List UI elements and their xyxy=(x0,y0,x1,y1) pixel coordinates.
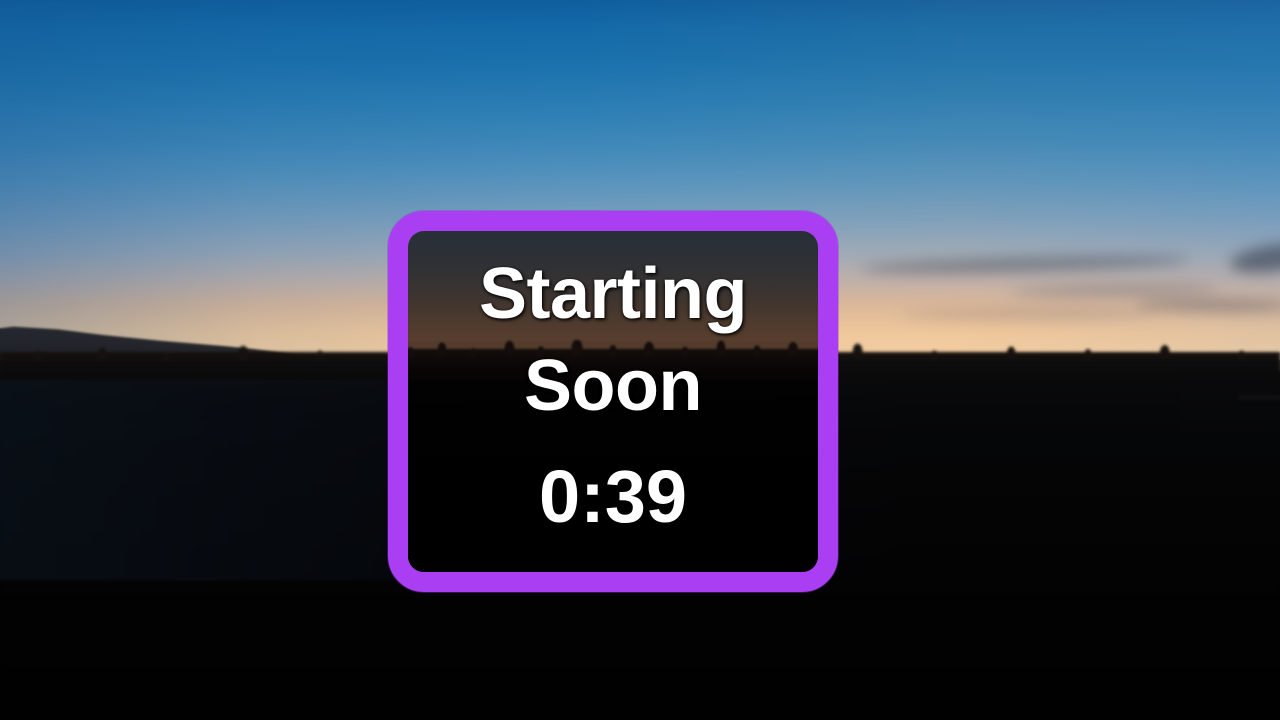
card-text-stack: Starting Soon 0:39 xyxy=(408,231,818,534)
starting-soon-card: Starting Soon 0:39 xyxy=(388,211,838,592)
countdown-timer: 0:39 xyxy=(539,460,687,534)
soon-text: Soon xyxy=(524,350,702,422)
screen-stage: Starting Soon 0:39 xyxy=(0,0,1280,720)
starting-text: Starting xyxy=(479,258,747,330)
